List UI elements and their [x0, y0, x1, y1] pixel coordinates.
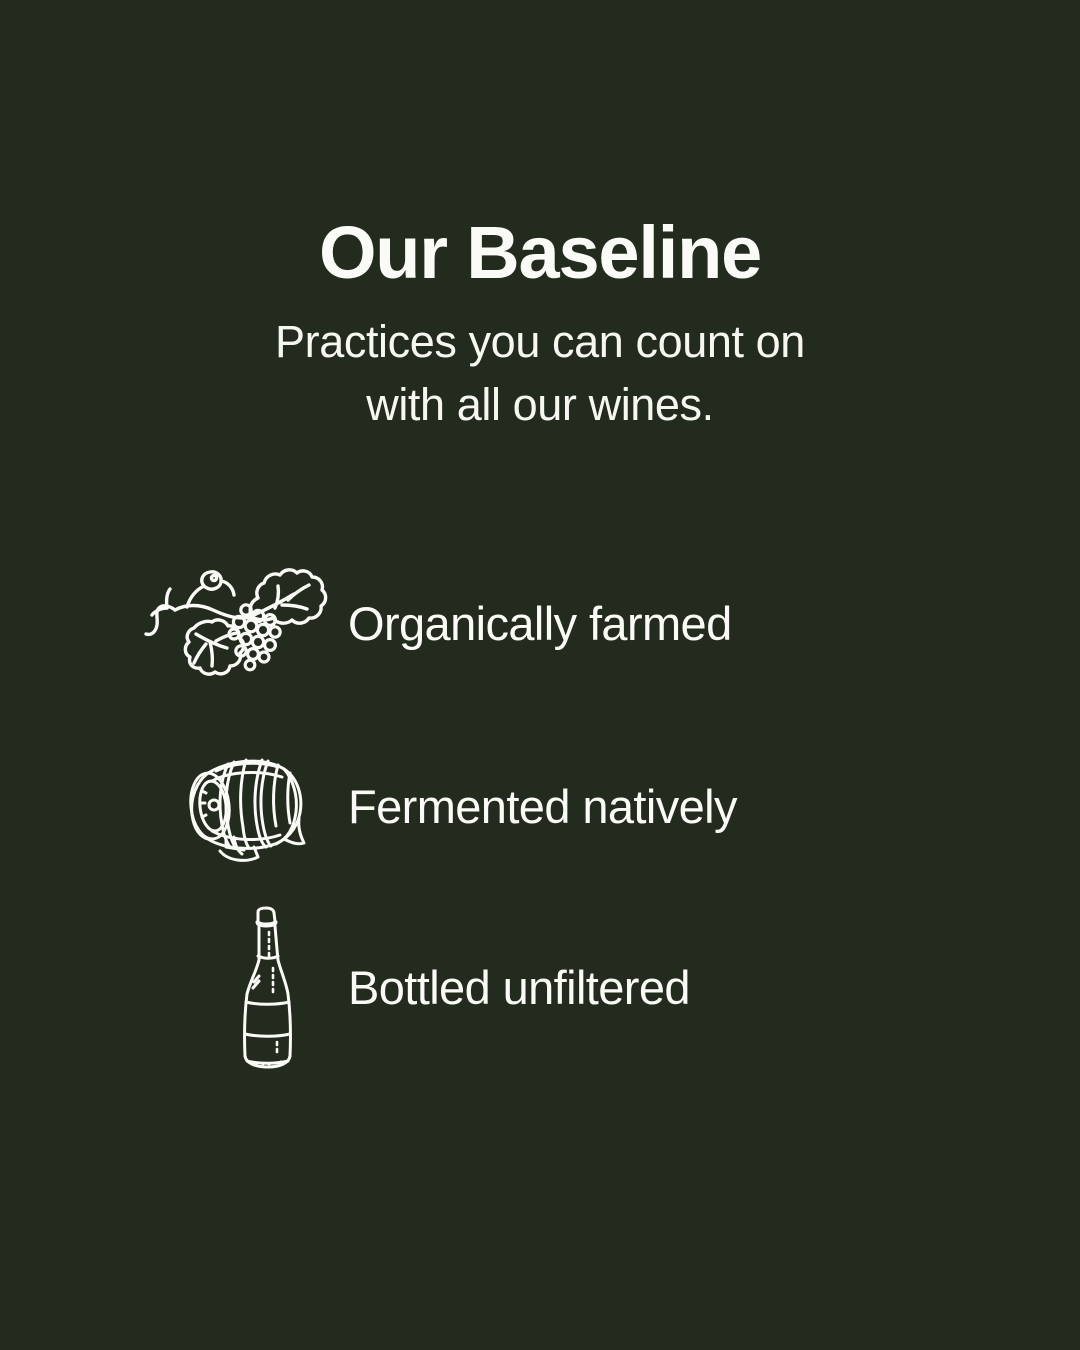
- header: Our Baseline Practices you can count on …: [0, 214, 1080, 436]
- promo-card: Our Baseline Practices you can count on …: [0, 0, 1080, 1350]
- list-item: Fermented natively: [0, 731, 1080, 914]
- feature-label-fermented-natively: Fermented natively: [348, 779, 737, 834]
- wine-barrel-icon: [172, 751, 312, 863]
- feature-label-organically-farmed: Organically farmed: [348, 596, 732, 651]
- page-title: Our Baseline: [0, 214, 1080, 292]
- feature-label-bottled-unfiltered: Bottled unfiltered: [348, 960, 690, 1015]
- feature-list: Organically farmed: [0, 548, 1080, 1097]
- wine-bottle-icon: [228, 906, 300, 1076]
- page-subtitle: Practices you can count on with all our …: [0, 310, 1080, 436]
- grapevine-icon: [142, 562, 332, 670]
- subtitle-line-2: with all our wines.: [0, 373, 1080, 436]
- list-item: Organically farmed: [0, 548, 1080, 731]
- list-item: Bottled unfiltered: [0, 914, 1080, 1097]
- subtitle-line-1: Practices you can count on: [0, 310, 1080, 373]
